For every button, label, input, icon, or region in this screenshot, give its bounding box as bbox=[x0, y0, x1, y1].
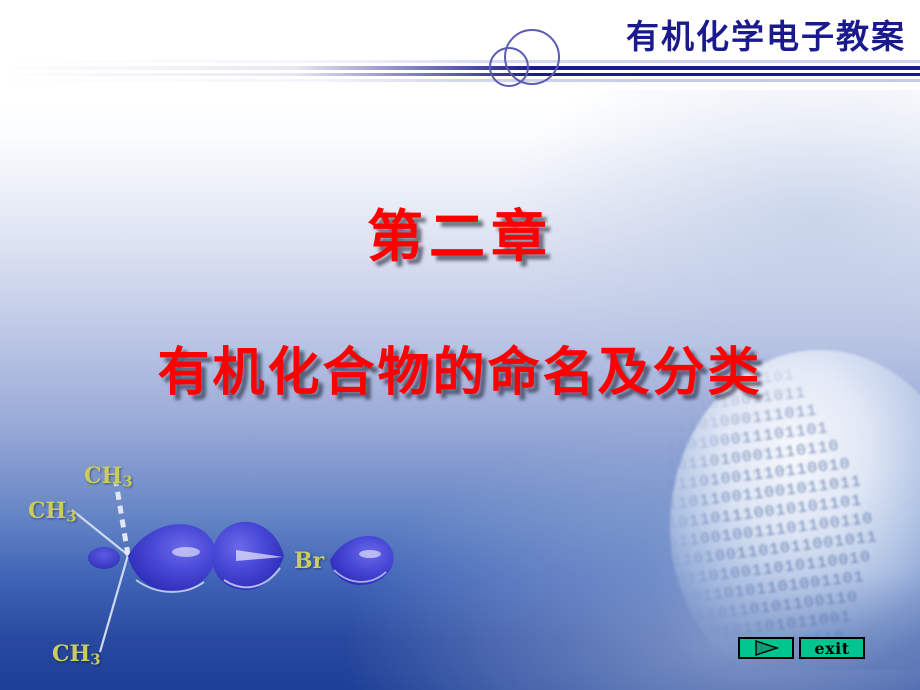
chapter-title: 第二章 bbox=[0, 192, 920, 273]
play-button[interactable] bbox=[738, 637, 794, 659]
header-title: 有机化学电子教案 bbox=[626, 10, 906, 58]
label-ch3-top: CH3 bbox=[84, 463, 133, 490]
header-rule-faint-bottom bbox=[0, 79, 920, 82]
orbital-lobe-large-3 bbox=[330, 536, 394, 585]
circle-outline-small-icon bbox=[489, 47, 529, 87]
orbital-highlight-1 bbox=[172, 547, 200, 557]
label-ch3-bottom: CH3 bbox=[52, 641, 101, 668]
chapter-subtitle: 有机化合物的命名及分类 bbox=[0, 330, 920, 405]
exit-button[interactable]: exit bbox=[799, 637, 865, 659]
orbital-lobe-small-left bbox=[88, 547, 120, 569]
play-triangle-icon bbox=[753, 640, 779, 656]
orbital-highlight-3 bbox=[359, 550, 381, 558]
bond-ch3-bottom bbox=[100, 555, 128, 652]
label-ch3-left: CH3 bbox=[28, 498, 77, 525]
label-br: Br bbox=[294, 548, 324, 574]
presentation-slide: 0101101110110101101101101101001101101101… bbox=[0, 0, 920, 690]
slide-header: 有机化学电子教案 bbox=[0, 0, 920, 100]
header-rule-faint-top bbox=[0, 60, 920, 63]
header-rule-primary bbox=[0, 66, 920, 70]
header-rule-secondary bbox=[0, 73, 920, 76]
bond-ch3-top bbox=[116, 482, 128, 555]
